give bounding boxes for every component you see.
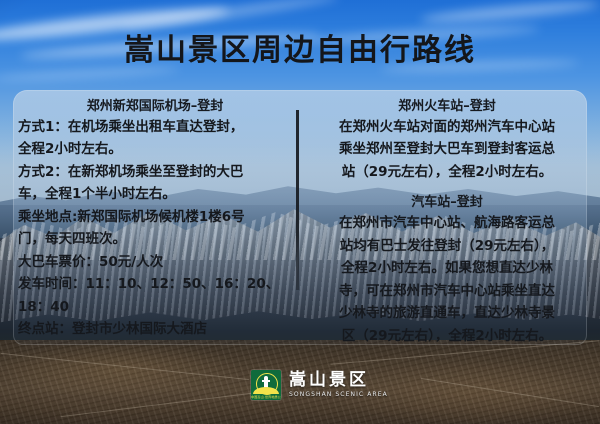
brand-logo: 中国嵩山·世界地质公园 嵩山景区 SONGSHAN SCENIC AREA (251, 370, 388, 400)
section-body-airport: 方式1：在机场乘坐出租车直达登封， 全程2小时左右。 方式2：在新郑机场乘坐至登… (18, 117, 292, 340)
hill-shape-icon (253, 387, 279, 394)
route-line: 方式1：在机场乘坐出租车直达登封， (18, 117, 292, 138)
poster-root: 嵩山景区周边自由行路线 郑州新郑国际机场–登封 方式1：在机场乘坐出租车直达登封… (0, 0, 600, 424)
route-line: 车，全程1个半小时左右。 (18, 184, 292, 205)
brand-name-en: SONGSHAN SCENIC AREA (289, 391, 388, 399)
route-line: 终点站：登封市少林国际大酒店 (18, 319, 292, 340)
route-line: 全程2小时左右。如果您想直达少林 (306, 258, 588, 279)
section-body-train-station: 在郑州火车站对面的郑州汽车中心站 乘坐郑州至登封大巴车到登封客运总 站（29元左… (306, 117, 588, 183)
route-line: 寺，可在郑州市汽车中心站乘坐直达 (306, 281, 588, 302)
left-column: 郑州新郑国际机场–登封 方式1：在机场乘坐出租车直达登封， 全程2小时左右。 方… (18, 98, 292, 342)
route-line: 乘坐郑州至登封大巴车到登封客运总 (306, 139, 588, 160)
route-line: 发车时间：11：10、12：50、16：20、 (18, 274, 292, 295)
page-title: 嵩山景区周边自由行路线 (0, 34, 600, 67)
songshan-emblem-icon: 中国嵩山·世界地质公园 (251, 370, 281, 400)
route-line: 区（29元左右），全程2小时左右。 (306, 326, 588, 347)
route-line: 门，每天四班次。 (18, 229, 292, 250)
route-line: 少林寺的旅游直通车，直达少林寺景 (306, 303, 588, 324)
column-divider (296, 110, 299, 290)
route-line: 乘坐地点:新郑国际机场候机楼1楼6号 (18, 207, 292, 228)
route-line: 站均有巴士发往登封（29元左右）， (306, 236, 588, 257)
section-spacer (306, 184, 588, 194)
route-line: 大巴车票价：50元/人次 (18, 252, 292, 273)
section-heading-airport: 郑州新郑国际机场–登封 (18, 98, 292, 117)
route-line: 全程2小时左右。 (18, 139, 292, 160)
route-line: 18：40 (18, 297, 292, 318)
route-line: 在郑州火车站对面的郑州汽车中心站 (306, 117, 588, 138)
route-line: 站（29元左右），全程2小时左右。 (306, 162, 588, 183)
emblem-caption: 中国嵩山·世界地质公园 (251, 395, 281, 400)
right-column: 郑州火车站–登封 在郑州火车站对面的郑州汽车中心站 乘坐郑州至登封大巴车到登封客… (306, 98, 588, 348)
route-line: 方式2：在新郑机场乘坐至登封的大巴 (18, 162, 292, 183)
section-heading-train-station: 郑州火车站–登封 (306, 98, 588, 117)
section-heading-bus-station: 汽车站–登封 (306, 194, 588, 213)
route-line: 在郑州市汽车中心站、航海路客运总 (306, 213, 588, 234)
brand-name-cn: 嵩山景区 (289, 371, 388, 390)
section-body-bus-station: 在郑州市汽车中心站、航海路客运总 站均有巴士发往登封（29元左右）， 全程2小时… (306, 213, 588, 346)
brand-text: 嵩山景区 SONGSHAN SCENIC AREA (289, 371, 388, 399)
